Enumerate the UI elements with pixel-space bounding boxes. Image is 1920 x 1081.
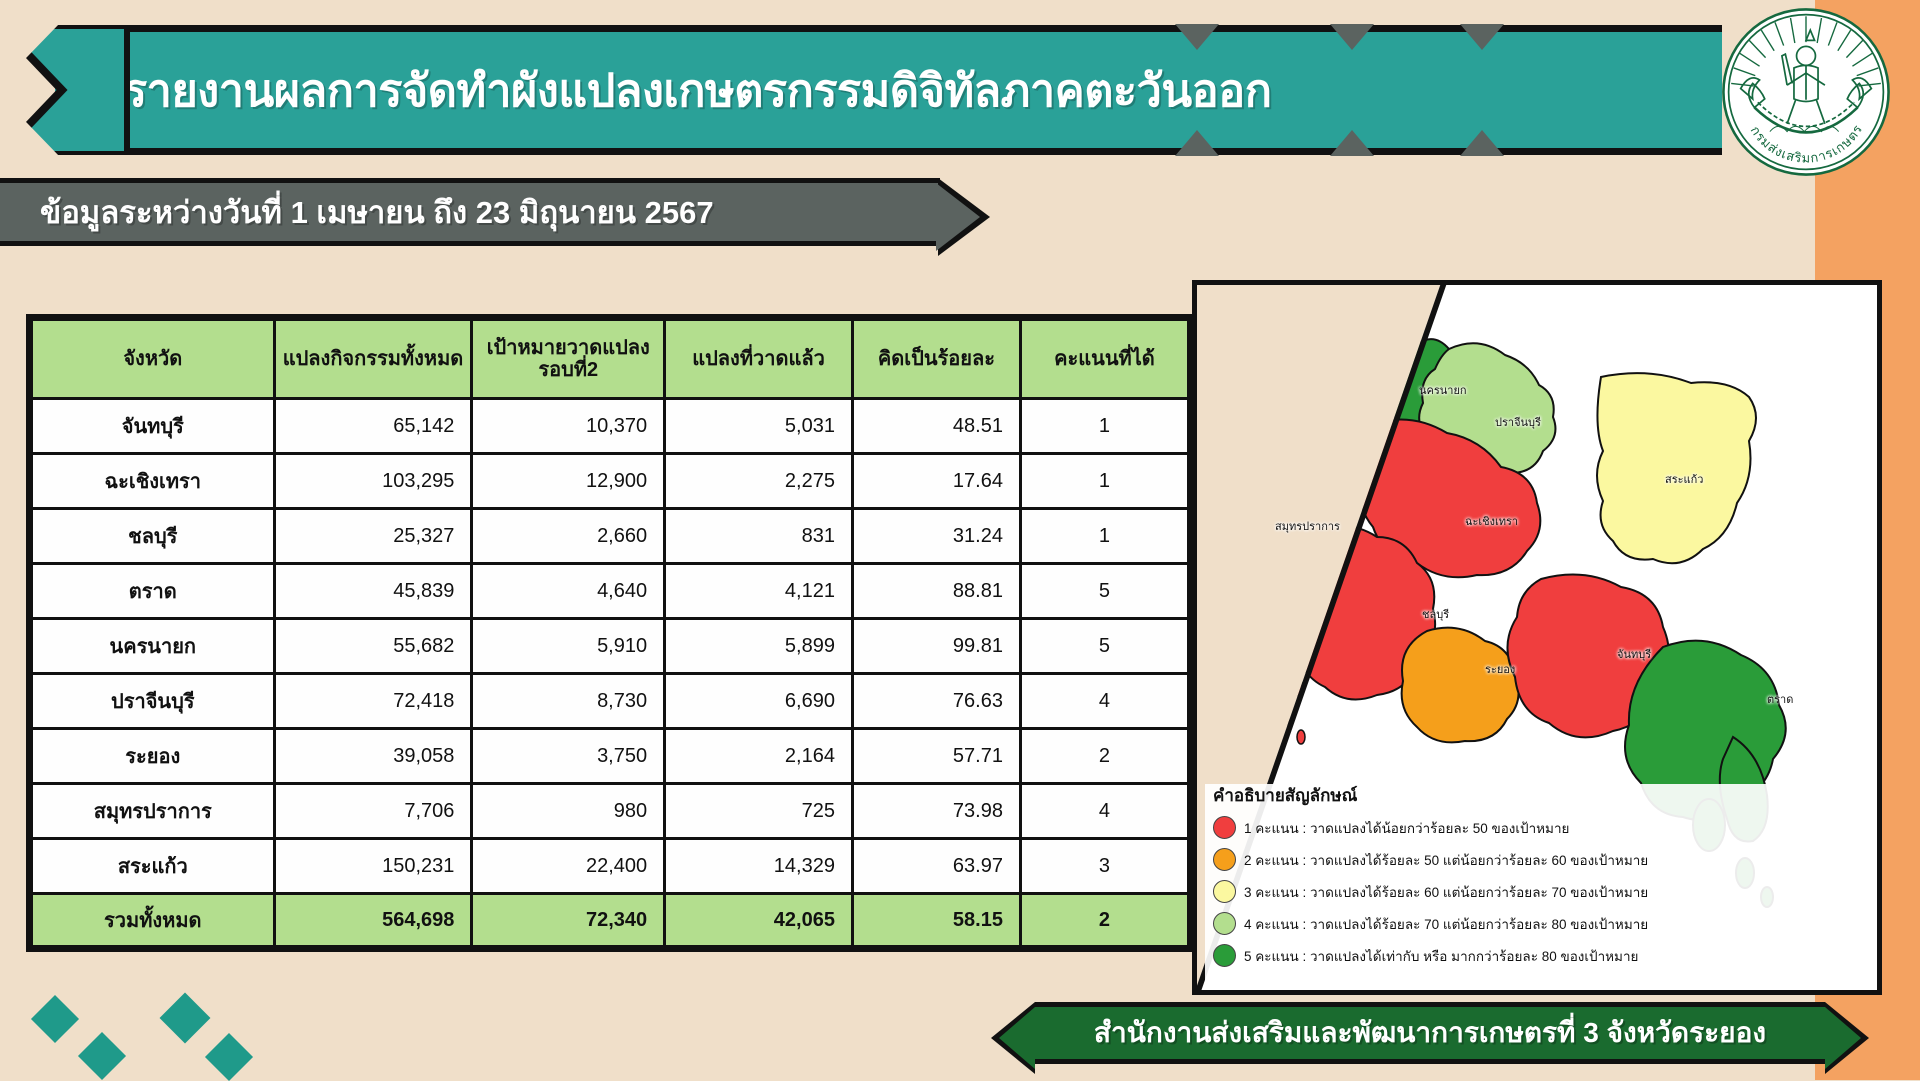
cell-score: 1 [1020,399,1188,454]
cell-score: 3 [1020,839,1188,894]
cell-score: 2 [1020,729,1188,784]
cell-province: จันทบุรี [32,399,275,454]
cell-target: 980 [472,784,665,839]
cell-province: ระยอง [32,729,275,784]
cell-province: สมุทรปราการ [32,784,275,839]
cell-target: 2,660 [472,509,665,564]
decor-diamond-4 [205,1033,253,1081]
col-percent: คิดเป็นร้อยละ [852,320,1020,399]
cell-score: 1 [1020,454,1188,509]
table-header-row: จังหวัด แปลงกิจกรรมทั้งหมด เป้าหมายวาดแป… [32,320,1189,399]
banner-notch-bottom-1 [1175,130,1219,156]
total-percent: 58.15 [852,894,1020,947]
table-total-row: รวมทั้งหมด 564,698 72,340 42,065 58.15 2 [32,894,1189,947]
legend-title: คำอธิบายสัญลักษณ์ [1213,782,1773,809]
cell-target: 8,730 [472,674,665,729]
table-row: สมุทรปราการ7,70698072573.984 [32,784,1189,839]
cell-target: 10,370 [472,399,665,454]
cell-target: 22,400 [472,839,665,894]
cell-percent: 99.81 [852,619,1020,674]
footer-left-point-fill [999,1007,1035,1069]
cell-province: นครนายก [32,619,275,674]
eastern-region-choropleth-map: นครนายกปราจีนบุรีสระแก้วฉะเชิงเทราสมุทรป… [1192,280,1882,995]
footer-band: สำนักงานส่งเสริมและพัฒนาการเกษตรที่ 3 จั… [1035,1002,1825,1064]
total-total: 564,698 [274,894,472,947]
cell-total: 7,706 [274,784,472,839]
legend-item: 2 คะแนน : วาดแปลงได้ร้อยละ 50 แต่น้อยกว่… [1213,848,1773,871]
decor-diamond-1 [31,995,79,1043]
cell-province: ฉะเชิงเทรา [32,454,275,509]
legend-item-label: 3 คะแนน : วาดแปลงได้ร้อยละ 60 แต่น้อยกว่… [1244,881,1648,903]
table-row: ปราจีนบุรี72,4188,7306,69076.634 [32,674,1189,729]
decor-diamond-3 [78,1032,126,1080]
cell-percent: 31.24 [852,509,1020,564]
col-drawn: แปลงที่วาดแล้ว [665,320,853,399]
table-row: ตราด45,8394,6404,12188.815 [32,564,1189,619]
total-label: รวมทั้งหมด [32,894,275,947]
banner-notch-top-3 [1460,24,1504,50]
header-left-chevron-icon [0,25,130,155]
cell-target: 5,910 [472,619,665,674]
legend-item: 4 คะแนน : วาดแปลงได้ร้อยละ 70 แต่น้อยกว่… [1213,912,1773,935]
cell-target: 3,750 [472,729,665,784]
map-legend: คำอธิบายสัญลักษณ์ 1 คะแนน : วาดแปลงได้น้… [1213,782,1773,976]
legend-item: 5 คะแนน : วาดแปลงได้เท่ากับ หรือ มากกว่า… [1213,944,1773,967]
total-target: 72,340 [472,894,665,947]
date-range-text: ข้อมูลระหว่างวันที่ 1 เมษายน ถึง 23 มิถุ… [0,187,714,237]
legend-item: 3 คะแนน : วาดแปลงได้ร้อยละ 60 แต่น้อยกว่… [1213,880,1773,903]
cell-target: 12,900 [472,454,665,509]
cell-percent: 73.98 [852,784,1020,839]
cell-drawn: 4,121 [665,564,853,619]
total-drawn: 42,065 [665,894,853,947]
legend-color-swatch-icon [1213,912,1236,935]
header-banner: รายงานผลการจัดทำผังแปลงเกษตรกรรมดิจิทัลภ… [0,25,1722,155]
table-foot: รวมทั้งหมด 564,698 72,340 42,065 58.15 2 [32,894,1189,947]
legend-color-swatch-icon [1213,880,1236,903]
page-title: รายงานผลการจัดทำผังแปลงเกษตรกรรมดิจิทัลภ… [55,54,1271,126]
date-ribbon-point-fill [936,183,980,251]
banner-notch-top-1 [1175,24,1219,50]
cell-province: สระแก้ว [32,839,275,894]
banner-notch-bottom-2 [1330,130,1374,156]
cell-total: 39,058 [274,729,472,784]
cell-total: 55,682 [274,619,472,674]
banner-notch-bottom-3 [1460,130,1504,156]
cell-percent: 48.51 [852,399,1020,454]
col-province: จังหวัด [32,320,275,399]
legend-color-swatch-icon [1213,944,1236,967]
cell-percent: 88.81 [852,564,1020,619]
footer-right-point-fill [1825,1007,1861,1069]
cell-score: 5 [1020,619,1188,674]
table-head: จังหวัด แปลงกิจกรรมทั้งหมด เป้าหมายวาดแป… [32,320,1189,399]
table-row: สระแก้ว150,23122,40014,32963.973 [32,839,1189,894]
results-table-container: จังหวัด แปลงกิจกรรมทั้งหมด เป้าหมายวาดแป… [26,314,1194,952]
cell-percent: 76.63 [852,674,1020,729]
legend-color-swatch-icon [1213,848,1236,871]
cell-drawn: 831 [665,509,853,564]
cell-province: ตราด [32,564,275,619]
table-row: จันทบุรี65,14210,3705,03148.511 [32,399,1189,454]
cell-drawn: 6,690 [665,674,853,729]
cell-score: 4 [1020,784,1188,839]
cell-score: 5 [1020,564,1188,619]
cell-percent: 57.71 [852,729,1020,784]
cell-drawn: 725 [665,784,853,839]
total-score: 2 [1020,894,1188,947]
footer-banner: สำนักงานส่งเสริมและพัฒนาการเกษตรที่ 3 จั… [1035,1002,1825,1064]
legend-item: 1 คะแนน : วาดแปลงได้น้อยกว่าร้อยละ 50 ขอ… [1213,816,1773,839]
cell-total: 103,295 [274,454,472,509]
results-table: จังหวัด แปลงกิจกรรมทั้งหมด เป้าหมายวาดแป… [30,318,1190,948]
footer-text: สำนักงานส่งเสริมและพัฒนาการเกษตรที่ 3 จั… [1094,1011,1766,1055]
cell-target: 4,640 [472,564,665,619]
table-row: ฉะเชิงเทรา103,29512,9002,27517.641 [32,454,1189,509]
cell-score: 1 [1020,509,1188,564]
banner-notch-top-2 [1330,24,1374,50]
cell-drawn: 5,899 [665,619,853,674]
cell-percent: 17.64 [852,454,1020,509]
date-range-band: ข้อมูลระหว่างวันที่ 1 เมษายน ถึง 23 มิถุ… [0,178,940,246]
table-row: ระยอง39,0583,7502,16457.712 [32,729,1189,784]
cell-total: 72,418 [274,674,472,729]
legend-item-label: 1 คะแนน : วาดแปลงได้น้อยกว่าร้อยละ 50 ขอ… [1244,817,1569,839]
cell-total: 45,839 [274,564,472,619]
cell-province: ชลบุรี [32,509,275,564]
legend-color-swatch-icon [1213,816,1236,839]
cell-total: 25,327 [274,509,472,564]
cell-score: 4 [1020,674,1188,729]
cell-percent: 63.97 [852,839,1020,894]
cell-total: 150,231 [274,839,472,894]
table-row: ชลบุรี25,3272,66083131.241 [32,509,1189,564]
col-total: แปลงกิจกรรมทั้งหมด [274,320,472,399]
cell-province: ปราจีนบุรี [32,674,275,729]
date-range-ribbon: ข้อมูลระหว่างวันที่ 1 เมษายน ถึง 23 มิถุ… [0,178,940,246]
cell-drawn: 5,031 [665,399,853,454]
decor-diamond-2 [160,993,211,1044]
legend-item-label: 5 คะแนน : วาดแปลงได้เท่ากับ หรือ มากกว่า… [1244,945,1638,967]
cell-drawn: 2,164 [665,729,853,784]
department-of-agricultural-extension-logo-icon: กรมส่งเสริมการเกษตร [1720,6,1892,178]
table-body: จันทบุรี65,14210,3705,03148.511ฉะเชิงเทร… [32,399,1189,894]
cell-drawn: 2,275 [665,454,853,509]
legend-item-label: 2 คะแนน : วาดแปลงได้ร้อยละ 50 แต่น้อยกว่… [1244,849,1648,871]
col-score: คะแนนที่ได้ [1020,320,1188,399]
legend-item-label: 4 คะแนน : วาดแปลงได้ร้อยละ 70 แต่น้อยกว่… [1244,913,1648,935]
cell-drawn: 14,329 [665,839,853,894]
table-row: นครนายก55,6825,9105,89999.815 [32,619,1189,674]
col-target: เป้าหมายวาดแปลงรอบที่2 [472,320,665,399]
map-island-samae-san [1297,730,1305,744]
cell-total: 65,142 [274,399,472,454]
